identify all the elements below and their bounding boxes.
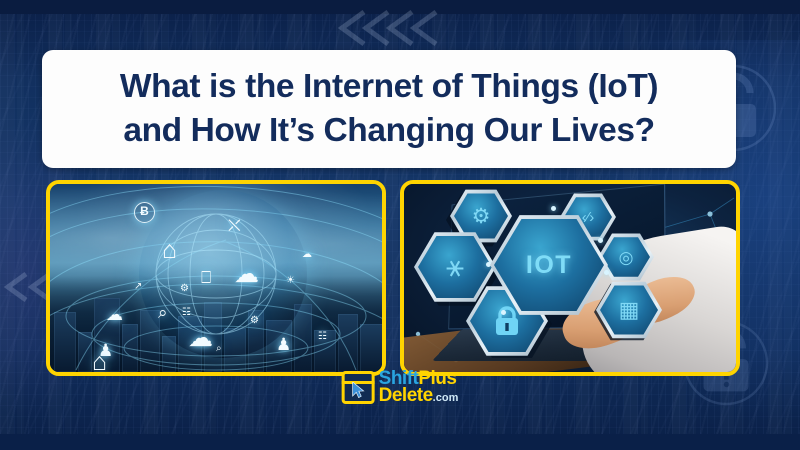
site-logo[interactable]: Shift Plus Delete .com bbox=[342, 370, 459, 405]
page-title-line-2: and How It’s Changing Our Lives? bbox=[123, 110, 654, 153]
code-icon: ‹⁄› bbox=[582, 210, 595, 225]
logo-word-delete: Delete bbox=[379, 387, 433, 404]
connector-node bbox=[486, 262, 491, 267]
cloud-icon: ☁ bbox=[234, 262, 259, 287]
lightbulb-icon: ☀ bbox=[286, 276, 295, 286]
car-icon: ⛌ bbox=[228, 217, 241, 234]
chip-icon: ▦ bbox=[619, 299, 640, 321]
location-pin-icon: ⌕ bbox=[158, 304, 168, 321]
cursor-in-box-icon bbox=[342, 371, 375, 404]
cloud-icon: ☁ bbox=[188, 326, 213, 351]
gear-icon: ⚙ bbox=[472, 206, 491, 227]
chevron-left-group-icon bbox=[330, 6, 450, 50]
connector-node bbox=[598, 238, 603, 243]
logo-wordmark: Shift Plus Delete .com bbox=[379, 370, 459, 405]
bitcoin-icon: Ƀ bbox=[134, 202, 155, 223]
logo-word-tld: .com bbox=[433, 393, 459, 403]
gear-icon: ⚙ bbox=[180, 284, 189, 294]
featured-image-canvas: What is the Internet of Things (IoT) and… bbox=[0, 0, 800, 450]
robot-icon: ♟ bbox=[276, 336, 291, 353]
image-panel-iot-hexagons: ⚙ ‹⁄› ⚹ ◎ bbox=[400, 180, 740, 376]
document-icon: ☷ bbox=[182, 308, 191, 318]
cloud-icon: ☁ bbox=[302, 250, 312, 260]
connector-node bbox=[604, 270, 609, 275]
user-icon: ⚹ bbox=[446, 252, 464, 282]
background-bottom-band bbox=[0, 434, 800, 450]
location-pin-icon: ⌕ bbox=[216, 344, 222, 354]
chart-icon: ↗ bbox=[134, 282, 142, 292]
home-icon: ⌂ bbox=[92, 350, 107, 372]
connector-node bbox=[501, 310, 506, 315]
page-title-line-1: What is the Internet of Things (IoT) bbox=[120, 66, 658, 109]
cloud-icon: ☁ bbox=[106, 306, 123, 323]
smartphone-icon: ⎕ bbox=[201, 269, 211, 286]
cursor-arrow-icon bbox=[352, 382, 365, 398]
title-card: What is the Internet of Things (IoT) and… bbox=[42, 50, 736, 168]
home-icon: ⌂ bbox=[162, 238, 177, 263]
fingerprint-icon: ◎ bbox=[619, 249, 634, 266]
globe-core bbox=[139, 190, 307, 358]
connector-node bbox=[551, 206, 556, 211]
iot-label: IOT bbox=[526, 251, 572, 280]
image-panel-smart-city: ⌂ ☁ Ƀ ⎕ ⛌ ↗ ⌕ ☀ ⚙ ♟ ☷ ♟ ☁ ☁ ⌂ ☁ ⚙ ⌕ ☷ bbox=[46, 180, 386, 376]
document-icon: ☷ bbox=[318, 332, 327, 342]
gear-icon: ⚙ bbox=[250, 316, 259, 326]
